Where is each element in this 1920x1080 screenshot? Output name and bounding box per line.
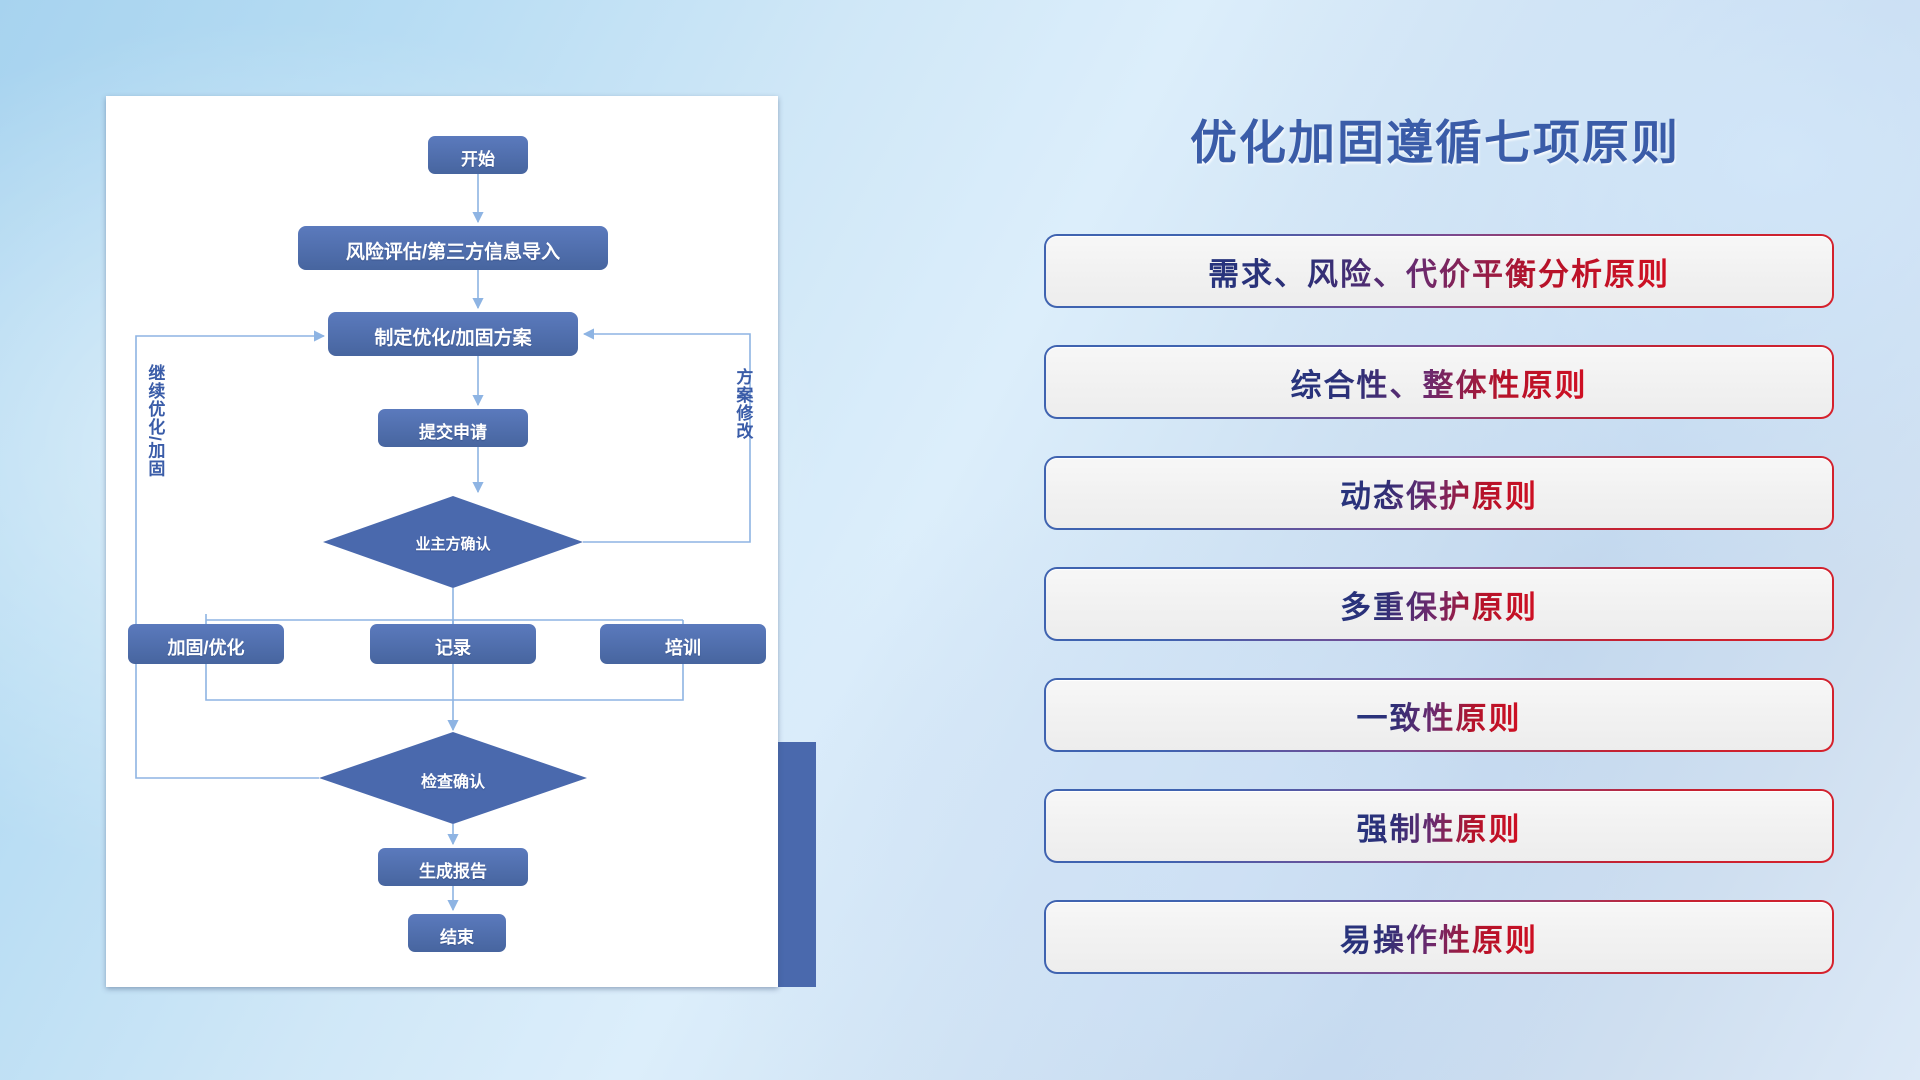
principle-item-2-inner: 综合性、整体性原则 — [1046, 347, 1832, 417]
flowchart-canvas — [106, 96, 778, 987]
principle-item-3-inner: 动态保护原则 — [1046, 458, 1832, 528]
principle-item-4-inner: 多重保护原则 — [1046, 569, 1832, 639]
principle-item-7-inner: 易操作性原则 — [1046, 902, 1832, 972]
principle-item-2-label: 综合性、整体性原则 — [1291, 360, 1588, 405]
principle-item-5-inner: 一致性原则 — [1046, 680, 1832, 750]
principle-item-7-label: 易操作性原则 — [1340, 915, 1538, 960]
principle-item-4[interactable]: 多重保护原则 — [1044, 567, 1834, 641]
principle-item-1-inner: 需求、风险、代价平衡分析原则 — [1046, 236, 1832, 306]
node-record[interactable] — [370, 624, 536, 664]
principles-list: 需求、风险、代价平衡分析原则 综合性、整体性原则 动态保护原则 多重保护原则 — [1044, 234, 1834, 1011]
principle-item-6[interactable]: 强制性原则 — [1044, 789, 1834, 863]
principle-item-2[interactable]: 综合性、整体性原则 — [1044, 345, 1834, 419]
slide-canvas: 开始 风险评估/第三方信息导入 制定优化/加固方案 提交申请 业主方确认 加固/… — [0, 0, 1920, 1080]
node-generate-report[interactable] — [378, 848, 528, 886]
flow-nodes — [128, 136, 766, 952]
node-check-confirm[interactable] — [319, 732, 587, 824]
edge-label-continue-optimize: 继续优化/加固 — [146, 364, 163, 524]
node-owner-confirm[interactable] — [323, 496, 583, 588]
principle-item-6-label: 强制性原则 — [1357, 804, 1522, 849]
principle-item-5-label: 一致性原则 — [1357, 693, 1522, 738]
flowchart-card: 开始 风险评估/第三方信息导入 制定优化/加固方案 提交申请 业主方确认 加固/… — [106, 96, 778, 987]
node-submit-application[interactable] — [378, 409, 528, 447]
edge-label-revise-plan: 方案修改 — [734, 368, 751, 488]
node-reinforce-optimize[interactable] — [128, 624, 284, 664]
edge-check-plan-continue — [136, 336, 324, 778]
panel-title: 优化加固遵循七项原则 — [1020, 104, 1850, 173]
edge-owner-plan-revise — [583, 334, 750, 542]
principle-item-3[interactable]: 动态保护原则 — [1044, 456, 1834, 530]
principle-item-7[interactable]: 易操作性原则 — [1044, 900, 1834, 974]
edge-tasks-join — [206, 664, 683, 700]
principle-item-5[interactable]: 一致性原则 — [1044, 678, 1834, 752]
node-make-plan[interactable] — [328, 312, 578, 356]
node-risk-assessment[interactable] — [298, 226, 608, 270]
principle-item-1-label: 需求、风险、代价平衡分析原则 — [1208, 249, 1670, 294]
node-end[interactable] — [408, 914, 506, 952]
principles-panel: 优化加固遵循七项原则 需求、风险、代价平衡分析原则 综合性、整体性原则 动态保护… — [1020, 0, 1850, 1080]
principle-item-1[interactable]: 需求、风险、代价平衡分析原则 — [1044, 234, 1834, 308]
node-training[interactable] — [600, 624, 766, 664]
principle-item-6-inner: 强制性原则 — [1046, 791, 1832, 861]
node-start[interactable] — [428, 136, 528, 174]
principle-item-3-label: 动态保护原则 — [1340, 471, 1538, 516]
principle-item-4-label: 多重保护原则 — [1340, 582, 1538, 627]
